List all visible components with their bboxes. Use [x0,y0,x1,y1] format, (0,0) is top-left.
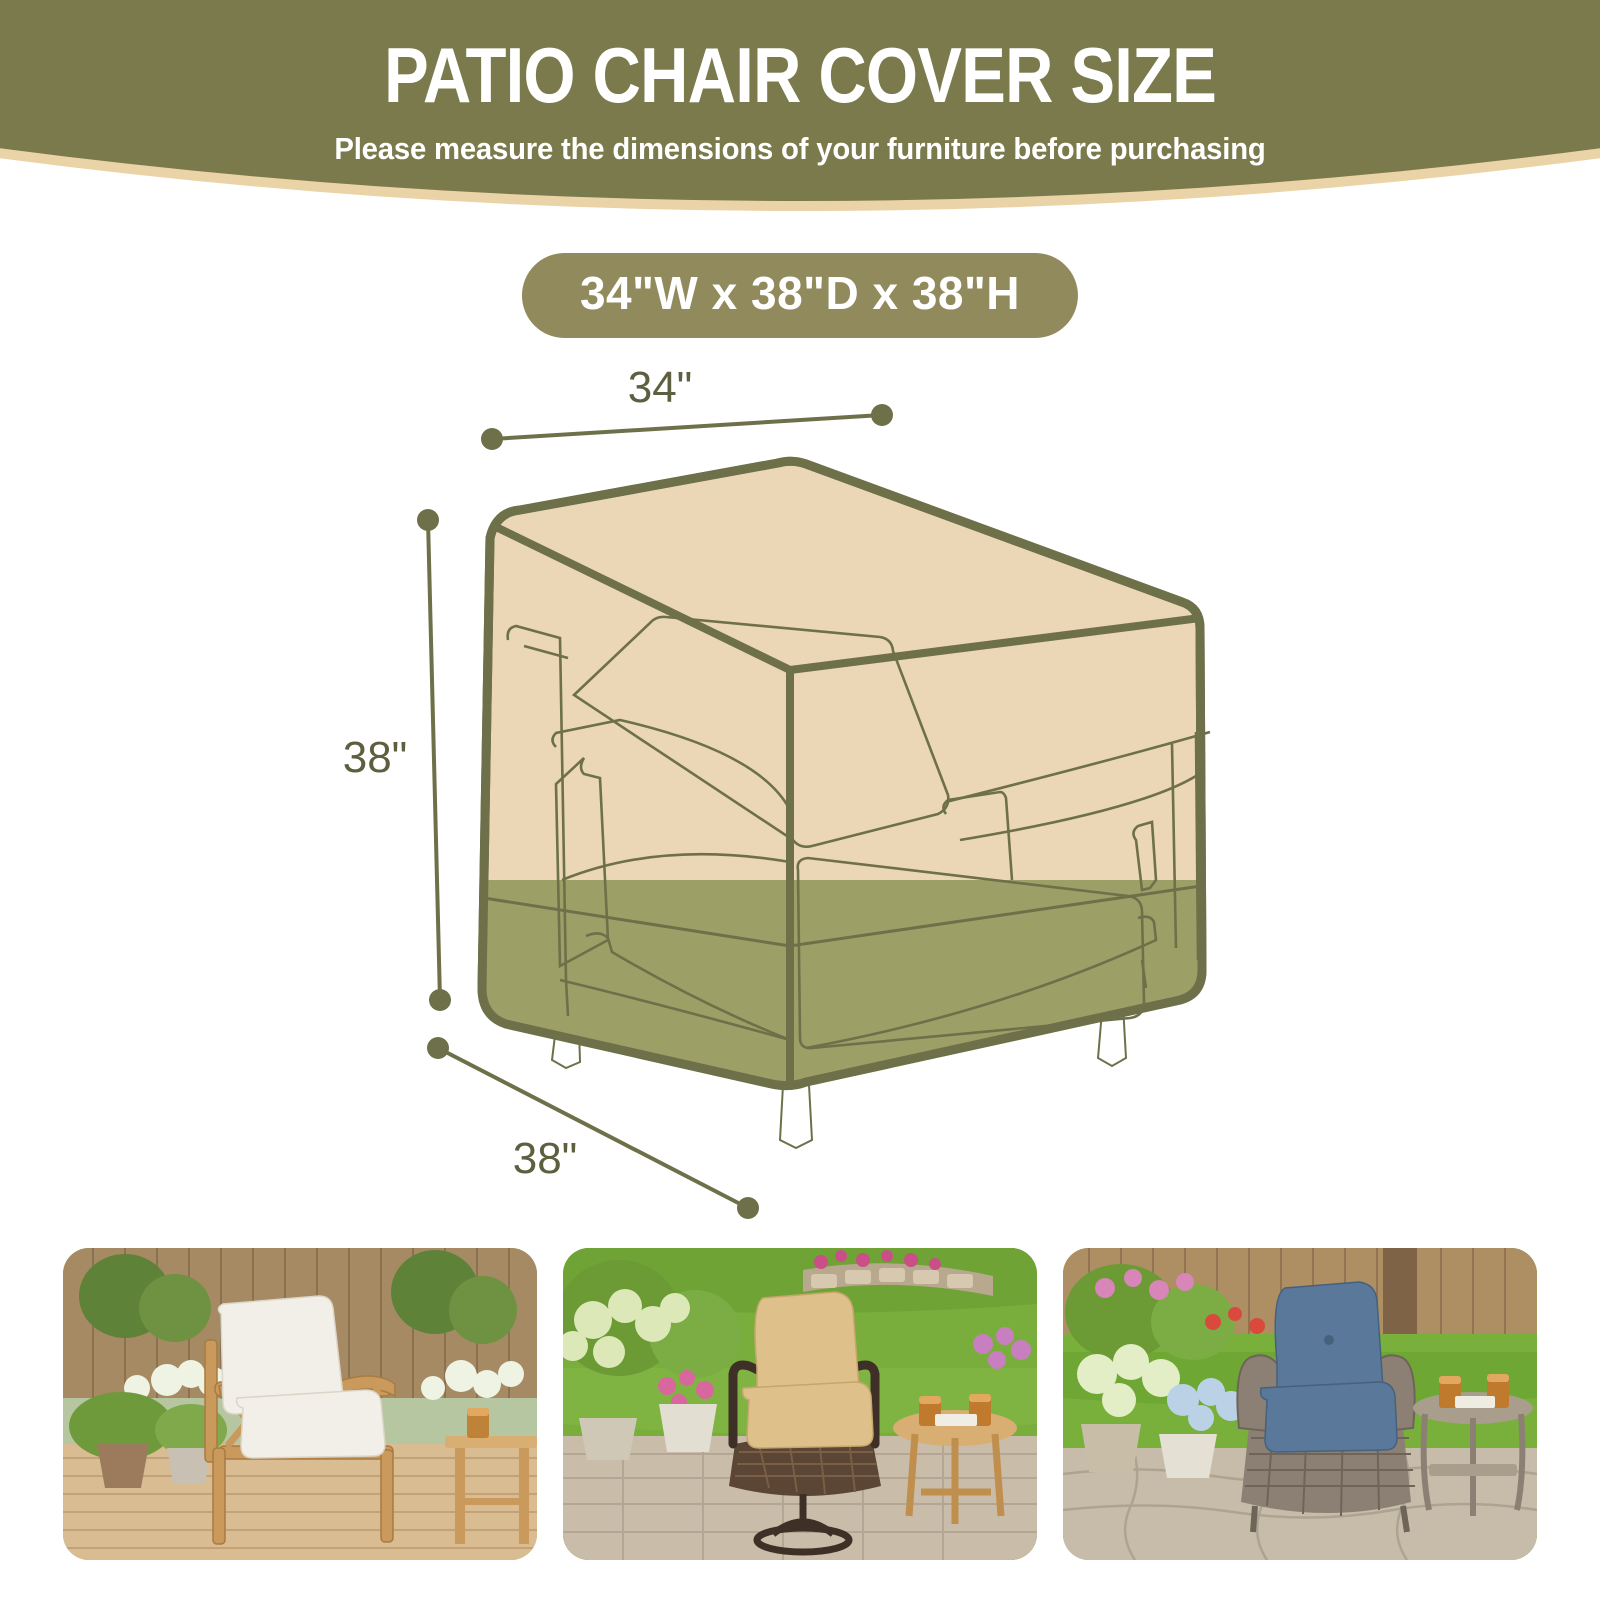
lifestyle-photo-strip [0,1248,1600,1578]
width-endpoint-right [871,404,893,426]
width-endpoint-left [481,428,503,450]
header-banner: PATIO CHAIR COVER SIZE Please measure th… [0,0,1600,230]
photo-blue-wicker-chair [1063,1248,1537,1560]
depth-endpoint-end [737,1197,759,1219]
height-endpoint-bottom [429,989,451,1011]
height-endpoint-top [417,509,439,531]
height-dimension-line [428,520,440,1000]
depth-dimension-label: 38" [513,1134,578,1183]
dimension-diagram: 34" 38" 38" [0,340,1600,1240]
dimension-height: 38" [343,509,451,1011]
cover-illustration [482,461,1210,1148]
dimension-width: 34" [481,363,893,450]
page-title: PATIO CHAIR COVER SIZE [112,0,1488,116]
width-dimension-label: 34" [628,363,693,412]
photo-swivel-rocker [563,1248,1037,1560]
photo-teak-chair [63,1248,537,1560]
height-dimension-label: 38" [343,733,408,782]
page-subtitle: Please measure the dimensions of your fu… [32,116,1568,167]
depth-endpoint-start [427,1037,449,1059]
size-badge: 34"W x 38"D x 38"H [522,253,1078,338]
width-dimension-line [492,415,882,439]
